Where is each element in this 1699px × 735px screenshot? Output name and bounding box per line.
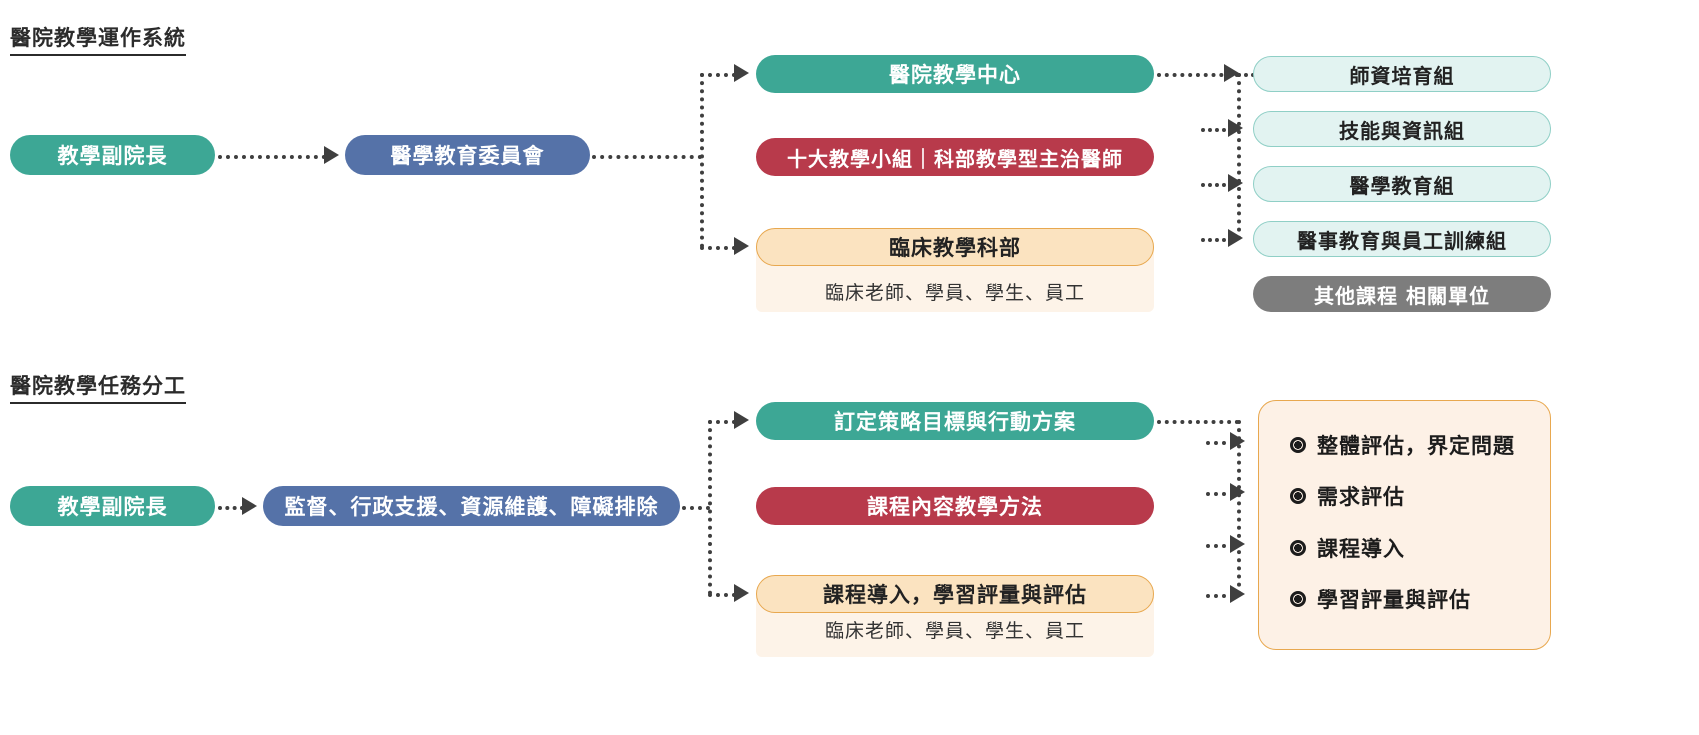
- s2-bullet-row-2[interactable]: 課程導入: [1290, 533, 1405, 563]
- bullet-dot-icon: [1290, 437, 1306, 453]
- s2-connector-committee-trunk: [682, 506, 710, 510]
- s1-connector-root-committee: [218, 155, 326, 159]
- s1-root-node[interactable]: 教學副院長: [10, 135, 215, 175]
- s2-trunk-vertical: [708, 420, 712, 595]
- s1-branch-top: [700, 73, 736, 77]
- bullet-dot-icon: [1290, 591, 1306, 607]
- s1-middle-node-2[interactable]: 臨床教學科部: [756, 228, 1154, 266]
- s2-bullet-label-1: 需求評估: [1317, 481, 1405, 511]
- s2-right-arrow-0: [1230, 432, 1245, 450]
- s2-root-node[interactable]: 教學副院長: [10, 486, 215, 526]
- s2-bullet-label-0: 整體評估，界定問題: [1317, 430, 1515, 460]
- s2-connector-root-committee: [218, 506, 244, 510]
- s2-middle-node-0[interactable]: 訂定策略目標與行動方案: [756, 402, 1154, 440]
- bullet-dot-icon: [1290, 488, 1306, 504]
- s1-right-node-1[interactable]: 技能與資訊組: [1253, 111, 1551, 147]
- s1-arrow-root-committee: [324, 146, 339, 164]
- bullet-dot-icon: [1290, 540, 1306, 556]
- s2-connector-center-right: [1157, 420, 1239, 424]
- s2-middle-node-1[interactable]: 課程內容教學方法: [756, 487, 1154, 525]
- s1-middle-node-1[interactable]: 十大教學小組｜科部教學型主治醫師: [756, 138, 1154, 176]
- s2-right-arrow-1: [1230, 483, 1245, 501]
- s2-branch-top: [708, 420, 736, 424]
- s1-right-arrow-0: [1224, 64, 1239, 82]
- diagram-canvas: 醫院教學運作系統 教學副院長 醫學教育委員會 醫院教學中心 十大教學小組｜科部教…: [0, 0, 1699, 735]
- s2-bullet-row-1[interactable]: 需求評估: [1290, 481, 1405, 511]
- s1-right-arrow-2: [1228, 174, 1243, 192]
- s2-middle-node-2[interactable]: 課程導入，學習評量與評估: [756, 575, 1154, 613]
- s2-arrow-to-course: [734, 584, 749, 602]
- s1-right-trunk-vertical: [1237, 73, 1241, 240]
- s1-right-node-0[interactable]: 師資培育組: [1253, 56, 1551, 92]
- s2-course-subtitle: 臨床老師、學員、學生、員工: [756, 616, 1154, 643]
- s1-middle-node-0[interactable]: 醫院教學中心: [756, 55, 1154, 93]
- section-title-1: 醫院教學運作系統: [10, 22, 186, 56]
- s1-connector-committee-trunk: [592, 155, 702, 159]
- s2-bullet-row-3[interactable]: 學習評量與評估: [1290, 584, 1471, 614]
- s2-bullet-label-3: 學習評量與評估: [1317, 584, 1471, 614]
- s2-arrow-root-committee: [242, 497, 257, 515]
- s1-committee-node[interactable]: 醫學教育委員會: [345, 135, 590, 175]
- s1-arrow-to-center: [734, 64, 749, 82]
- s1-branch-bottom: [700, 246, 736, 250]
- s1-right-arrow-3: [1228, 229, 1243, 247]
- s2-right-arrow-3: [1230, 585, 1245, 603]
- s1-arrow-to-clinical: [734, 237, 749, 255]
- s2-committee-node[interactable]: 監督、行政支援、資源維護、障礙排除: [263, 486, 680, 526]
- section-title-2: 醫院教學任務分工: [10, 370, 186, 404]
- s1-right-arrow-1: [1228, 119, 1243, 137]
- s1-right-node-3[interactable]: 醫事教育與員工訓練組: [1253, 221, 1551, 257]
- s2-arrow-to-strategy: [734, 411, 749, 429]
- s2-branch-bottom: [708, 593, 736, 597]
- s2-bullet-row-0[interactable]: 整體評估，界定問題: [1290, 430, 1515, 460]
- s1-trunk-vertical: [700, 73, 704, 248]
- s1-right-node-2[interactable]: 醫學教育組: [1253, 166, 1551, 202]
- s2-right-arrow-2: [1230, 535, 1245, 553]
- s2-bullet-label-2: 課程導入: [1317, 533, 1405, 563]
- s1-clinical-subtitle: 臨床老師、學員、學生、員工: [756, 278, 1154, 305]
- s1-right-node-4[interactable]: 其他課程 相關單位: [1253, 276, 1551, 312]
